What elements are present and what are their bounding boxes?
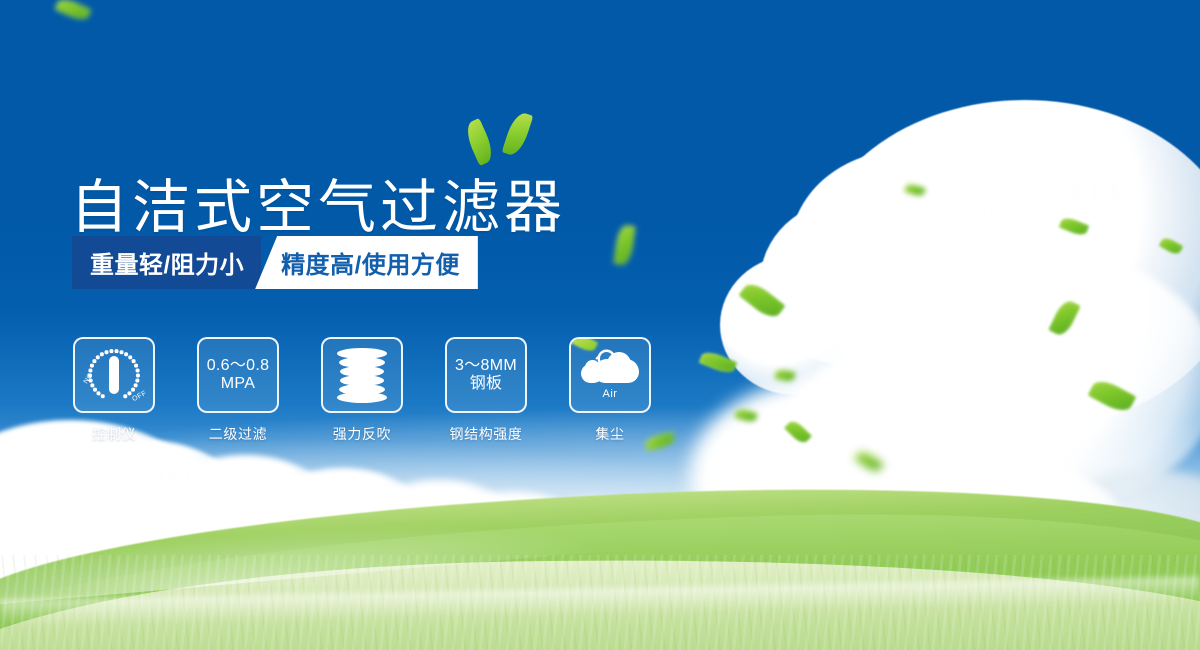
feature-item-dust-collection[interactable]: Air 集尘 [568,337,652,444]
feature-item-control-dial[interactable]: NO OFF 控制仪 [72,337,156,444]
feature-item-strong-backblow[interactable]: 强力反吹 [320,337,404,444]
steel-plate-text-icon-line2: 钢板 [470,375,503,393]
dial-dot [136,374,139,377]
feature-label: 钢结构强度 [450,424,523,444]
dial-dot [101,395,104,398]
feature-icon-box: Air [569,337,651,413]
coil-stem [351,352,353,398]
sprout-leaves-icon [466,106,546,168]
feature-label: 控制仪 [92,424,136,444]
dial-dot [115,349,118,352]
dial-dot [105,351,108,354]
feature-list: NO OFF 控制仪 0.6～0.8 MPA 二级过滤 [72,337,652,444]
feature-icon-box: 3～8MM 钢板 [445,337,527,413]
pressure-text-icon-line2: MPA [221,375,255,393]
dial-dot [91,384,94,387]
product-hero-banner: 自洁式空气过滤器 重量轻/阻力小 精度高/使用方便 NO OFF 控制仪 0.6… [0,0,1200,650]
dial-dot [93,388,96,391]
dial-dot [132,359,135,362]
feature-label: 强力反吹 [333,424,391,444]
dial-dot [124,353,127,356]
air-label: Air [603,388,618,400]
feature-icon-box: 0.6～0.8 MPA [197,337,279,413]
dial-dot [131,388,134,391]
dial-dot [93,359,96,362]
dial-dot [120,351,123,354]
dial-dot [134,384,137,387]
feature-icon-box: NO OFF [73,337,155,413]
dial-dot [134,364,137,367]
dial-dot [100,353,103,356]
sprout-leaf-left [462,118,497,166]
control-dial-icon: NO OFF [85,347,143,403]
tagline-secondary: 精度高/使用方便 [255,236,478,289]
feature-item-steel-strength[interactable]: 3～8MM 钢板 钢结构强度 [444,337,528,444]
dial-pointer [109,356,119,394]
tagline-primary: 重量轻/阻力小 [72,236,261,289]
tagline-bar: 重量轻/阻力小 精度高/使用方便 [72,236,478,289]
dial-dot [110,349,113,352]
feature-icon-box [321,337,403,413]
pressure-text-icon-line1: 0.6～0.8 [207,357,270,375]
dial-dot [90,364,93,367]
steel-plate-text-icon-line1: 3～8MM [455,357,517,375]
sprout-leaf-right [502,110,534,158]
dial-dot [129,356,132,359]
filter-coil-icon [337,348,387,402]
dial-dot [124,395,127,398]
feature-label: 二级过滤 [209,424,267,444]
coil-stem [361,352,363,398]
dial-dot [136,369,139,372]
feature-label: 集尘 [595,424,624,444]
dial-dot [136,379,139,382]
dial-dot [128,392,131,395]
page-title: 自洁式空气过滤器 [70,179,566,237]
feature-item-two-stage-filter[interactable]: 0.6～0.8 MPA 二级过滤 [196,337,280,444]
cloud-puff [581,364,603,383]
dial-dot [96,356,99,359]
coil-stem [371,352,373,398]
dial-dot [97,392,100,395]
air-cloud-icon [581,351,639,385]
